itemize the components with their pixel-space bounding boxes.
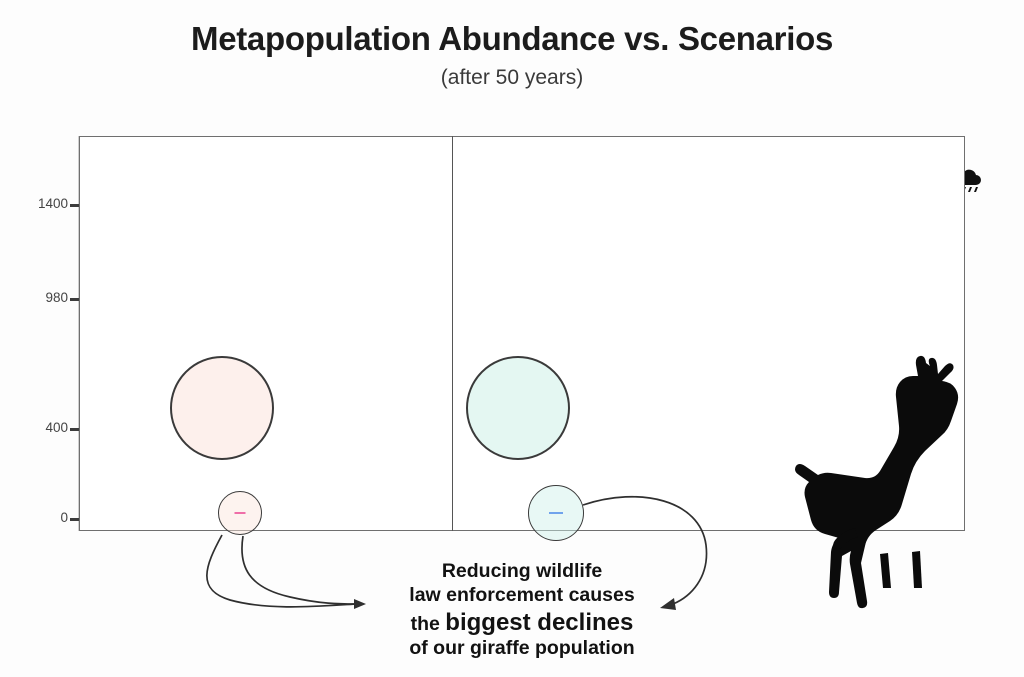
y-axis-tick-label: 1400 — [22, 196, 68, 211]
annotation-line-1: Reducing wildlife — [372, 560, 672, 584]
magnifier-blue-small[interactable] — [528, 485, 584, 541]
y-axis-tick-label: 980 — [22, 290, 68, 305]
single-additive-divider — [452, 136, 453, 531]
annotation-line-3: the biggest declines — [372, 608, 672, 637]
annotation-line-3-bold: biggest declines — [445, 609, 633, 636]
annotation-line-4: of our giraffe population — [372, 637, 672, 661]
annotation-text: Reducing wildlife law enforcement causes… — [372, 560, 672, 661]
magnifier-blue[interactable] — [466, 356, 570, 460]
y-axis-tick-mark — [70, 518, 79, 521]
infographic-root: Metapopulation Abundance vs. Scenarios (… — [0, 0, 1024, 677]
chart-frame — [79, 136, 965, 531]
y-axis-tick-mark — [70, 428, 79, 431]
page-subtitle: (after 50 years) — [0, 66, 1024, 90]
y-axis-tick-label: 0 — [22, 510, 68, 525]
magnifier-pink-small[interactable] — [218, 491, 262, 535]
page-title: Metapopulation Abundance vs. Scenarios — [0, 20, 1024, 58]
y-axis-tick-mark — [70, 298, 79, 301]
magnified-trace — [235, 512, 246, 514]
annotation-line-3-pre: the — [411, 613, 446, 635]
y-axis-tick-mark — [70, 204, 79, 207]
y-axis-tick-label: 400 — [22, 420, 68, 435]
annotation-line-2: law enforcement causes — [372, 584, 672, 608]
magnifier-pink[interactable] — [170, 356, 274, 460]
magnified-trace — [549, 512, 563, 514]
